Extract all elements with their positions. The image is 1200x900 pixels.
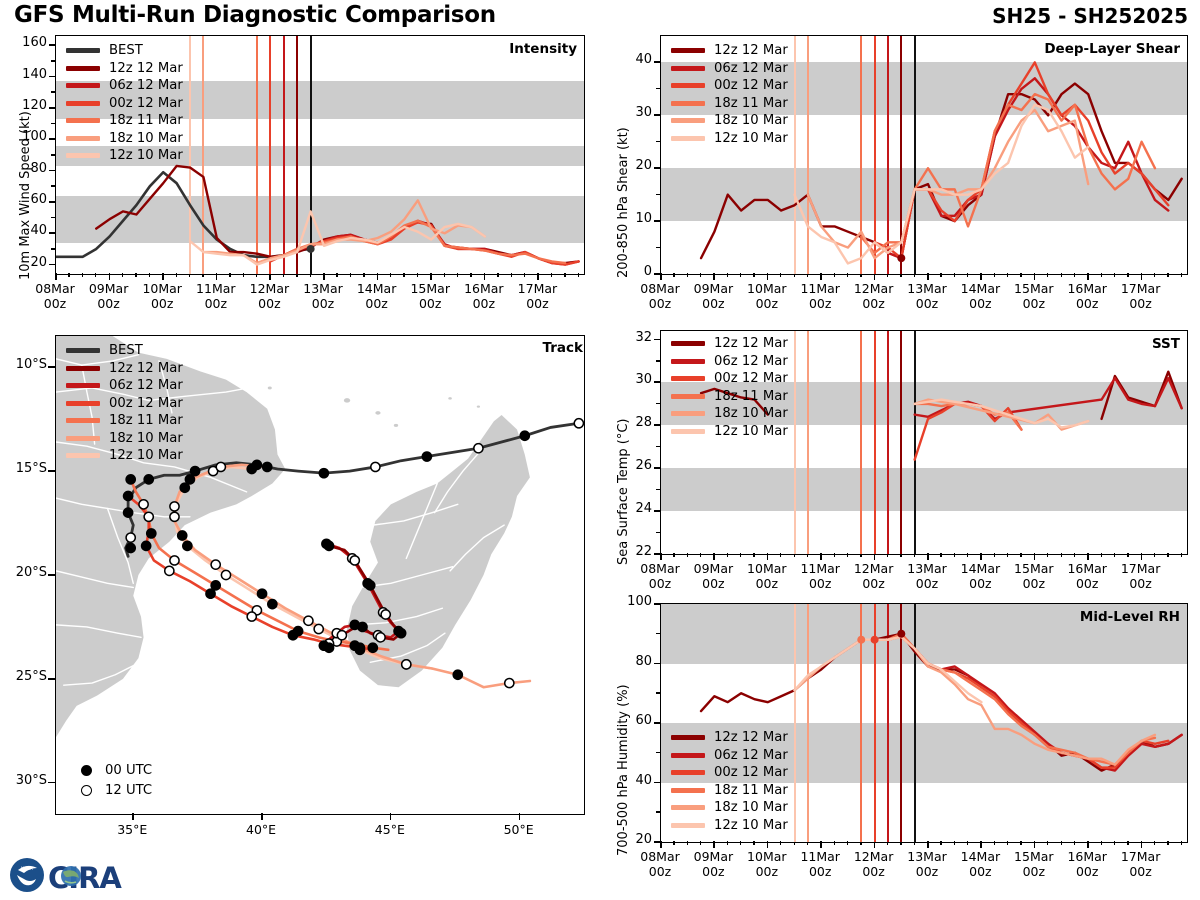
y-minor-tick bbox=[656, 692, 660, 694]
y-tick-mark bbox=[654, 782, 660, 784]
sst-legend: 12z 12 Mar06z 12 Mar00z 12 Mar18z 11 Mar… bbox=[671, 335, 788, 440]
y-tick-label: 26 bbox=[604, 458, 652, 473]
legend-item-06z-12-mar[interactable]: 06z 12 Mar bbox=[671, 353, 788, 371]
track-time-marker-filled bbox=[422, 452, 431, 461]
track-time-marker-filled bbox=[366, 581, 375, 590]
x-tick-mark bbox=[1034, 841, 1036, 848]
legend-item-18z-10-mar[interactable]: 18z 10 Mar bbox=[671, 405, 788, 423]
legend-item-best[interactable]: BEST bbox=[66, 42, 183, 60]
x-tick-mark bbox=[1141, 553, 1143, 560]
lat-tick-mark bbox=[48, 678, 55, 680]
series-line-18z-10-mar bbox=[795, 637, 1155, 765]
x-tick-mark bbox=[660, 841, 662, 848]
legend-swatch bbox=[66, 66, 100, 71]
y-tick-label: 20 bbox=[604, 158, 652, 173]
y-tick-label: 20 bbox=[0, 255, 47, 270]
lat-tick-mark bbox=[48, 366, 55, 368]
lat-tick-label: 15°S bbox=[0, 461, 47, 476]
x-tick-mark bbox=[269, 273, 271, 280]
legend-label: 12z 12 Mar bbox=[714, 43, 788, 58]
legend-label: 12z 10 Mar bbox=[714, 424, 788, 439]
y-tick-label: 100 bbox=[0, 129, 47, 144]
x-tick-mark bbox=[484, 273, 486, 280]
series-line-18z-10-mar bbox=[808, 110, 1088, 258]
svg-text:CIRA: CIRA bbox=[48, 861, 122, 895]
y-tick-label: 100 bbox=[604, 594, 652, 609]
legend-swatch bbox=[671, 788, 705, 793]
legend-item-12z-10-mar[interactable]: 12z 10 Mar bbox=[671, 423, 788, 441]
track-time-marker-filled bbox=[247, 464, 256, 473]
legend-label: 06z 12 Mar bbox=[109, 78, 183, 93]
svg-text:NOAA: NOAA bbox=[21, 866, 33, 871]
legend-label: 12z 12 Mar bbox=[714, 336, 788, 351]
island-0 bbox=[344, 398, 350, 402]
track-time-marker-filled bbox=[124, 491, 133, 500]
storm-id: SH25 - SH252025 bbox=[992, 4, 1188, 28]
track-time-marker-filled bbox=[520, 431, 529, 440]
legend-label: 00z 12 Mar bbox=[714, 765, 788, 780]
rh-y-axis-label: 700-500 hPa Humidity (%) bbox=[616, 684, 631, 856]
y-tick-mark bbox=[654, 61, 660, 63]
x-tick-mark bbox=[767, 273, 769, 280]
open-circle-icon bbox=[81, 785, 92, 796]
legend-label: 18z 11 Mar bbox=[714, 389, 788, 404]
x-tick-mark bbox=[1034, 273, 1036, 280]
x-tick-mark bbox=[820, 553, 822, 560]
x-tick-mark bbox=[55, 273, 57, 280]
legend-item-18z-11-mar[interactable]: 18z 11 Mar bbox=[671, 388, 788, 406]
series-line-06z-12-mar bbox=[888, 634, 1182, 771]
y-tick-mark bbox=[49, 76, 55, 78]
y-minor-tick bbox=[656, 403, 660, 405]
legend-label: 12z 12 Mar bbox=[714, 730, 788, 745]
legend-swatch bbox=[671, 376, 705, 381]
legend-swatch bbox=[671, 341, 705, 346]
data-point-marker bbox=[307, 245, 315, 253]
x-tick-mark bbox=[430, 273, 432, 280]
diagnostic-comparison-page: GFS Multi-Run Diagnostic Comparison SH25… bbox=[0, 0, 1200, 900]
marker-legend-label: 12 UTC bbox=[105, 783, 152, 798]
legend-item-12z-12-mar[interactable]: 12z 12 Mar bbox=[671, 42, 788, 60]
legend-item-18z-10-mar[interactable]: 18z 10 Mar bbox=[66, 430, 183, 448]
legend-item-00z-12-mar[interactable]: 00z 12 Mar bbox=[671, 370, 788, 388]
x-tick-label: 17Mar00z bbox=[1103, 562, 1179, 592]
legend-item-12z-10-mar[interactable]: 12z 10 Mar bbox=[66, 147, 183, 165]
track-time-marker-filled bbox=[324, 643, 333, 652]
legend-item-18z-11-mar[interactable]: 18z 11 Mar bbox=[66, 412, 183, 430]
island-2 bbox=[394, 424, 398, 427]
lat-tick-mark bbox=[48, 574, 55, 576]
rh-panel: 700-500 hPa Humidity (%) Mid-Level RH12z… bbox=[600, 598, 1200, 898]
lat-tick-label: 25°S bbox=[0, 669, 47, 684]
legend-item-18z-10-mar[interactable]: 18z 10 Mar bbox=[66, 130, 183, 148]
y-tick-label: 120 bbox=[0, 98, 47, 113]
y-tick-mark bbox=[654, 220, 660, 222]
track-time-marker-filled bbox=[368, 643, 377, 652]
track-time-marker-filled bbox=[268, 599, 277, 608]
island-5 bbox=[477, 406, 480, 408]
track-time-marker-filled bbox=[453, 670, 462, 679]
y-tick-mark bbox=[654, 603, 660, 605]
marker-legend-label: 00 UTC bbox=[105, 763, 152, 778]
legend-label: 00z 12 Mar bbox=[109, 96, 183, 111]
track-marker-legend: 00 UTC12 UTC bbox=[70, 760, 152, 800]
legend-swatch bbox=[66, 153, 100, 158]
y-tick-mark bbox=[49, 232, 55, 234]
track-time-marker-filled bbox=[190, 466, 199, 475]
legend-item-18z-10-mar[interactable]: 18z 10 Mar bbox=[671, 799, 788, 817]
legend-label: BEST bbox=[109, 43, 143, 58]
y-minor-tick bbox=[656, 811, 660, 813]
legend-item-12z-12-mar[interactable]: 12z 12 Mar bbox=[66, 60, 183, 78]
track-time-marker-filled bbox=[183, 541, 192, 550]
legend-label: 18z 10 Mar bbox=[714, 800, 788, 815]
x-tick-mark bbox=[1087, 273, 1089, 280]
legend-item-best[interactable]: BEST bbox=[66, 342, 183, 360]
marker-legend-item: 00 UTC bbox=[70, 760, 152, 780]
legend-swatch bbox=[66, 453, 100, 458]
x-tick-mark bbox=[820, 273, 822, 280]
y-tick-mark bbox=[654, 114, 660, 116]
x-tick-mark bbox=[874, 553, 876, 560]
data-point-marker bbox=[857, 636, 865, 644]
track-time-marker-open bbox=[574, 419, 583, 428]
legend-item-06z-12-mar[interactable]: 06z 12 Mar bbox=[66, 377, 183, 395]
legend-swatch bbox=[671, 359, 705, 364]
x-tick-mark bbox=[713, 841, 715, 848]
shear-legend: 12z 12 Mar06z 12 Mar00z 12 Mar18z 11 Mar… bbox=[671, 42, 788, 147]
legend-swatch bbox=[66, 48, 100, 53]
x-tick-mark bbox=[660, 553, 662, 560]
legend-swatch bbox=[671, 394, 705, 399]
y-tick-label: 0 bbox=[604, 264, 652, 279]
track-time-marker-filled bbox=[126, 543, 135, 552]
legend-item-18z-10-mar[interactable]: 18z 10 Mar bbox=[671, 112, 788, 130]
legend-item-18z-11-mar[interactable]: 18z 11 Mar bbox=[66, 112, 183, 130]
y-tick-label: 80 bbox=[0, 161, 47, 176]
legend-swatch bbox=[671, 770, 705, 775]
y-tick-mark bbox=[654, 424, 660, 426]
x-tick-mark bbox=[874, 841, 876, 848]
y-minor-tick bbox=[51, 154, 55, 156]
lat-tick-mark bbox=[48, 782, 55, 784]
x-tick-label: 17Mar00z bbox=[1103, 850, 1179, 880]
x-tick-mark bbox=[537, 273, 539, 280]
y-tick-label: 80 bbox=[604, 654, 652, 669]
legend-item-12z-10-mar[interactable]: 12z 10 Mar bbox=[671, 130, 788, 148]
series-line-06z-12-mar bbox=[888, 78, 1168, 258]
lon-tick-mark bbox=[132, 813, 134, 820]
track-time-marker-filled bbox=[126, 475, 135, 484]
legend-label: 00z 12 Mar bbox=[714, 78, 788, 93]
y-minor-tick bbox=[51, 248, 55, 250]
legend-swatch bbox=[66, 418, 100, 423]
legend-label: 12z 10 Mar bbox=[109, 448, 183, 463]
legend-swatch bbox=[671, 753, 705, 758]
legend-swatch bbox=[671, 136, 705, 141]
y-minor-tick bbox=[656, 532, 660, 534]
noaa-cira-logo: NOAA CIRA bbox=[8, 854, 158, 896]
y-minor-tick bbox=[656, 489, 660, 491]
track-time-marker-open bbox=[170, 556, 179, 565]
y-tick-mark bbox=[49, 138, 55, 140]
sst-panel: Sea Surface Temp (°C) SST12z 12 Mar06z 1… bbox=[600, 325, 1200, 595]
intensity-title: Intensity bbox=[509, 41, 577, 57]
series-line-18z-11-mar bbox=[861, 634, 1155, 765]
track-time-marker-filled bbox=[324, 541, 333, 550]
y-minor-tick bbox=[656, 88, 660, 90]
x-tick-label: 17Mar00z bbox=[1103, 282, 1179, 312]
y-tick-label: 20 bbox=[604, 832, 652, 847]
legend-swatch bbox=[671, 735, 705, 740]
y-tick-mark bbox=[654, 467, 660, 469]
filled-circle-icon bbox=[81, 765, 92, 776]
y-tick-mark bbox=[654, 167, 660, 169]
page-title: GFS Multi-Run Diagnostic Comparison bbox=[14, 2, 496, 28]
y-tick-label: 28 bbox=[604, 415, 652, 430]
track-time-marker-open bbox=[126, 533, 135, 542]
y-minor-tick bbox=[656, 360, 660, 362]
legend-swatch bbox=[66, 401, 100, 406]
legend-item-00z-12-mar[interactable]: 00z 12 Mar bbox=[671, 764, 788, 782]
x-tick-label: 17Mar00z bbox=[499, 282, 575, 312]
legend-label: 06z 12 Mar bbox=[714, 354, 788, 369]
x-tick-mark bbox=[109, 273, 111, 280]
series-line-06z-12-mar bbox=[915, 378, 1182, 419]
y-tick-label: 24 bbox=[604, 501, 652, 516]
legend-item-00z-12-mar[interactable]: 00z 12 Mar bbox=[66, 395, 183, 413]
series-line-00z-12-mar bbox=[875, 62, 1169, 258]
legend-item-00z-12-mar[interactable]: 00z 12 Mar bbox=[66, 95, 183, 113]
track-time-marker-filled bbox=[288, 631, 297, 640]
legend-swatch bbox=[66, 118, 100, 123]
y-minor-tick bbox=[656, 194, 660, 196]
y-tick-label: 40 bbox=[604, 52, 652, 67]
legend-swatch bbox=[671, 823, 705, 828]
legend-swatch bbox=[671, 429, 705, 434]
series-line-12z-12-mar-hist bbox=[701, 634, 901, 711]
legend-label: 06z 12 Mar bbox=[109, 378, 183, 393]
legend-label: 18z 10 Mar bbox=[109, 431, 183, 446]
x-tick-mark bbox=[377, 273, 379, 280]
series-line-12z-12-mar-hist bbox=[96, 166, 297, 257]
legend-item-12z-12-mar[interactable]: 12z 12 Mar bbox=[671, 335, 788, 353]
x-tick-mark bbox=[216, 273, 218, 280]
y-tick-label: 60 bbox=[604, 713, 652, 728]
legend-swatch bbox=[66, 383, 100, 388]
y-tick-label: 40 bbox=[604, 773, 652, 788]
track-time-marker-open bbox=[170, 502, 179, 511]
legend-item-18z-11-mar[interactable]: 18z 11 Mar bbox=[671, 782, 788, 800]
legend-swatch bbox=[66, 101, 100, 106]
intensity-plot-area: IntensityBEST12z 12 Mar06z 12 Mar00z 12 … bbox=[55, 35, 585, 275]
y-minor-tick bbox=[51, 123, 55, 125]
track-time-marker-open bbox=[337, 631, 346, 640]
island-4 bbox=[448, 397, 452, 400]
track-time-marker-open bbox=[371, 462, 380, 471]
x-tick-mark bbox=[980, 553, 982, 560]
y-tick-label: 32 bbox=[604, 330, 652, 345]
y-tick-mark bbox=[49, 264, 55, 266]
legend-label: 18z 11 Mar bbox=[714, 96, 788, 111]
y-minor-tick bbox=[51, 185, 55, 187]
footer-logos: NOAA CIRA bbox=[8, 854, 158, 896]
track-time-marker-open bbox=[314, 624, 323, 633]
lon-tick-label: 45°E bbox=[352, 823, 428, 838]
track-time-marker-filled bbox=[319, 469, 328, 478]
legend-item-06z-12-mar[interactable]: 06z 12 Mar bbox=[66, 77, 183, 95]
data-point-marker bbox=[897, 254, 905, 262]
legend-label: 18z 10 Mar bbox=[714, 113, 788, 128]
y-tick-mark bbox=[49, 170, 55, 172]
rh-title: Mid-Level RH bbox=[1080, 609, 1180, 625]
y-tick-label: 60 bbox=[0, 192, 47, 207]
lat-tick-label: 30°S bbox=[0, 773, 47, 788]
x-tick-mark bbox=[874, 273, 876, 280]
shear-plot-area: Deep-Layer Shear12z 12 Mar06z 12 Mar00z … bbox=[660, 35, 1188, 275]
track-time-marker-filled bbox=[144, 475, 153, 484]
shear-title: Deep-Layer Shear bbox=[1044, 41, 1180, 57]
track-panel-title: Track bbox=[543, 340, 583, 356]
x-tick-mark bbox=[713, 553, 715, 560]
track-time-marker-filled bbox=[147, 529, 156, 538]
lat-tick-label: 10°S bbox=[0, 357, 47, 372]
data-point-marker bbox=[897, 630, 905, 638]
track-time-marker-filled bbox=[263, 462, 272, 471]
data-point-marker bbox=[871, 636, 879, 644]
series-line-18z-10-mar bbox=[203, 200, 484, 263]
y-minor-tick bbox=[656, 752, 660, 754]
legend-label: 12z 10 Mar bbox=[714, 131, 788, 146]
y-tick-label: 10 bbox=[604, 211, 652, 226]
legend-label: BEST bbox=[109, 343, 143, 358]
lon-tick-mark bbox=[390, 813, 392, 820]
marker-legend-item: 12 UTC bbox=[70, 780, 152, 800]
y-tick-mark bbox=[654, 381, 660, 383]
legend-swatch bbox=[671, 83, 705, 88]
track-time-marker-open bbox=[376, 633, 385, 642]
x-tick-mark bbox=[1141, 273, 1143, 280]
x-tick-mark bbox=[927, 273, 929, 280]
legend-item-06z-12-mar[interactable]: 06z 12 Mar bbox=[671, 747, 788, 765]
legend-label: 12z 10 Mar bbox=[714, 818, 788, 833]
track-plot-area: BEST12z 12 Mar06z 12 Mar00z 12 Mar18z 11… bbox=[55, 335, 585, 815]
y-tick-mark bbox=[49, 44, 55, 46]
lon-tick-label: 35°E bbox=[94, 823, 170, 838]
x-tick-mark bbox=[767, 553, 769, 560]
track-time-marker-open bbox=[165, 566, 174, 575]
legend-item-12z-10-mar[interactable]: 12z 10 Mar bbox=[66, 447, 183, 465]
legend-item-00z-12-mar[interactable]: 00z 12 Mar bbox=[671, 77, 788, 95]
y-tick-mark bbox=[654, 663, 660, 665]
track-time-marker-open bbox=[170, 512, 179, 521]
legend-label: 18z 11 Mar bbox=[714, 783, 788, 798]
series-line-best bbox=[56, 172, 311, 257]
track-time-marker-filled bbox=[211, 581, 220, 590]
legend-label: 00z 12 Mar bbox=[109, 396, 183, 411]
x-tick-mark bbox=[162, 273, 164, 280]
series-line-12z-12-mar bbox=[901, 634, 1181, 771]
island-1 bbox=[375, 411, 380, 415]
track-time-marker-open bbox=[304, 616, 313, 625]
x-tick-mark bbox=[980, 841, 982, 848]
y-minor-tick bbox=[51, 91, 55, 93]
track-time-marker-open bbox=[216, 462, 225, 471]
x-tick-mark bbox=[980, 273, 982, 280]
lon-tick-label: 50°E bbox=[481, 823, 557, 838]
island-3 bbox=[268, 387, 272, 390]
track-time-marker-filled bbox=[257, 589, 266, 598]
x-tick-mark bbox=[1034, 553, 1036, 560]
legend-label: 06z 12 Mar bbox=[714, 61, 788, 76]
track-time-marker-open bbox=[381, 610, 390, 619]
series-line-12z-10-mar bbox=[795, 105, 1089, 264]
y-tick-label: 160 bbox=[0, 35, 47, 50]
legend-label: 06z 12 Mar bbox=[714, 748, 788, 763]
lat-tick-mark bbox=[48, 470, 55, 472]
x-tick-mark bbox=[927, 553, 929, 560]
y-tick-label: 40 bbox=[0, 223, 47, 238]
track-panel: BEST12z 12 Mar06z 12 Mar00z 12 Mar18z 11… bbox=[0, 330, 595, 855]
y-tick-mark bbox=[654, 510, 660, 512]
x-tick-mark bbox=[927, 841, 929, 848]
track-time-marker-filled bbox=[185, 475, 194, 484]
track-time-marker-open bbox=[139, 500, 148, 509]
legend-item-12z-10-mar[interactable]: 12z 10 Mar bbox=[671, 817, 788, 835]
legend-label: 18z 10 Mar bbox=[109, 131, 183, 146]
legend-item-06z-12-mar[interactable]: 06z 12 Mar bbox=[671, 60, 788, 78]
legend-swatch bbox=[66, 136, 100, 141]
y-minor-tick bbox=[656, 446, 660, 448]
rh-legend: 12z 12 Mar06z 12 Mar00z 12 Mar18z 11 Mar… bbox=[671, 729, 788, 834]
track-time-marker-filled bbox=[358, 622, 367, 631]
x-tick-mark bbox=[1141, 841, 1143, 848]
sst-plot-area: SST12z 12 Mar06z 12 Mar00z 12 Mar18z 11 … bbox=[660, 330, 1188, 555]
track-time-marker-filled bbox=[397, 629, 406, 638]
y-tick-mark bbox=[654, 339, 660, 341]
y-minor-tick bbox=[656, 247, 660, 249]
legend-label: 12z 12 Mar bbox=[109, 61, 183, 76]
track-time-marker-filled bbox=[178, 531, 187, 540]
legend-label: 18z 11 Mar bbox=[109, 113, 183, 128]
y-tick-label: 30 bbox=[604, 372, 652, 387]
track-time-marker-open bbox=[247, 612, 256, 621]
legend-swatch bbox=[671, 411, 705, 416]
legend-label: 12z 12 Mar bbox=[109, 361, 183, 376]
legend-item-12z-12-mar[interactable]: 12z 12 Mar bbox=[66, 360, 183, 378]
legend-label: 00z 12 Mar bbox=[714, 371, 788, 386]
track-time-marker-open bbox=[474, 444, 483, 453]
y-tick-label: 22 bbox=[604, 544, 652, 559]
track-time-marker-open bbox=[221, 570, 230, 579]
lat-tick-label: 20°S bbox=[0, 565, 47, 580]
track-time-marker-filled bbox=[142, 541, 151, 550]
legend-swatch bbox=[671, 805, 705, 810]
legend-swatch bbox=[66, 348, 100, 353]
y-tick-label: 30 bbox=[604, 105, 652, 120]
legend-item-18z-11-mar[interactable]: 18z 11 Mar bbox=[671, 95, 788, 113]
legend-swatch bbox=[66, 366, 100, 371]
y-minor-tick bbox=[656, 633, 660, 635]
legend-label: 18z 11 Mar bbox=[109, 413, 183, 428]
y-tick-mark bbox=[654, 722, 660, 724]
legend-label: 18z 10 Mar bbox=[714, 406, 788, 421]
lon-tick-label: 40°E bbox=[223, 823, 299, 838]
x-tick-mark bbox=[1087, 553, 1089, 560]
track-legend: BEST12z 12 Mar06z 12 Mar00z 12 Mar18z 11… bbox=[66, 342, 183, 465]
legend-item-12z-12-mar[interactable]: 12z 12 Mar bbox=[671, 729, 788, 747]
track-time-marker-filled bbox=[180, 483, 189, 492]
